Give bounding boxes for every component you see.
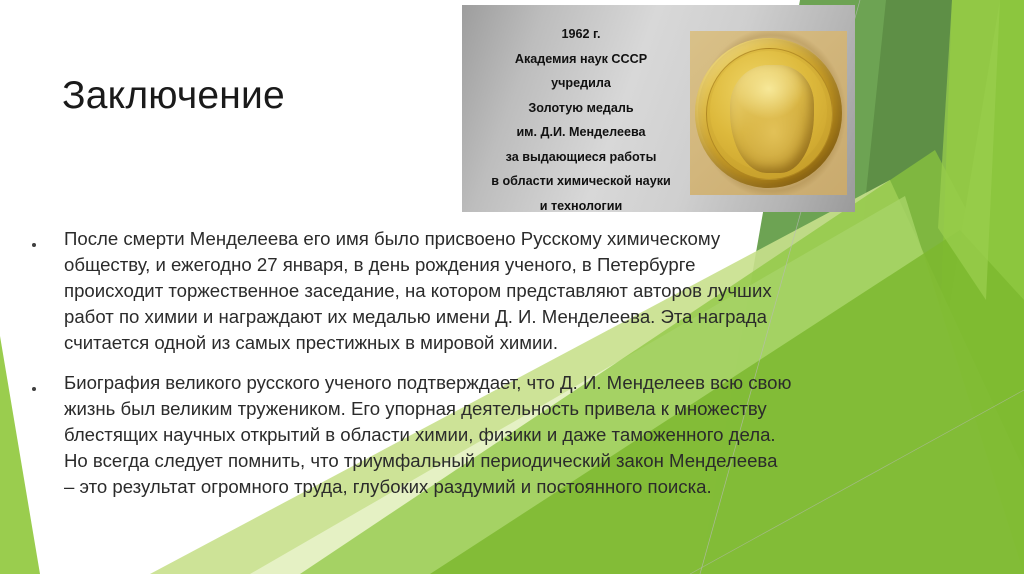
list-item: После смерти Менделеева его имя было при… — [32, 226, 792, 357]
list-item: Биография великого русского ученого подт… — [32, 370, 792, 501]
caption-line: Академия наук СССР — [470, 47, 692, 72]
gold-medal-photo — [690, 31, 847, 195]
bullet-marker-icon — [32, 226, 64, 249]
deco-shape-dark-sliver — [862, 0, 952, 330]
bullet-text: После смерти Менделеева его имя было при… — [64, 226, 792, 357]
caption-line: Золотую медаль — [470, 96, 692, 121]
medal-caption: 1962 г. Академия наук СССР учредила Золо… — [470, 22, 692, 218]
bullet-marker-icon — [32, 370, 64, 393]
caption-line: 1962 г. — [470, 22, 692, 47]
caption-line: им. Д.И. Менделеева — [470, 120, 692, 145]
caption-line: и технологии — [470, 194, 692, 219]
caption-line: за выдающиеся работы — [470, 145, 692, 170]
medal-picture-frame: 1962 г. Академия наук СССР учредила Золо… — [462, 5, 855, 212]
caption-line: учредила — [470, 71, 692, 96]
caption-line: в области химической науки — [470, 169, 692, 194]
mendeleev-portrait-relief — [730, 65, 814, 173]
deco-shape-upper-light-accent — [938, 0, 1000, 300]
deco-shape-far-right-panel — [905, 0, 1024, 574]
body-content: После смерти Менделеева его имя было при… — [32, 226, 792, 513]
presentation-slide: Заключение 1962 г. Академия наук СССР уч… — [0, 0, 1024, 574]
bullet-text: Биография великого русского ученого подт… — [64, 370, 792, 501]
page-title: Заключение — [62, 75, 285, 118]
